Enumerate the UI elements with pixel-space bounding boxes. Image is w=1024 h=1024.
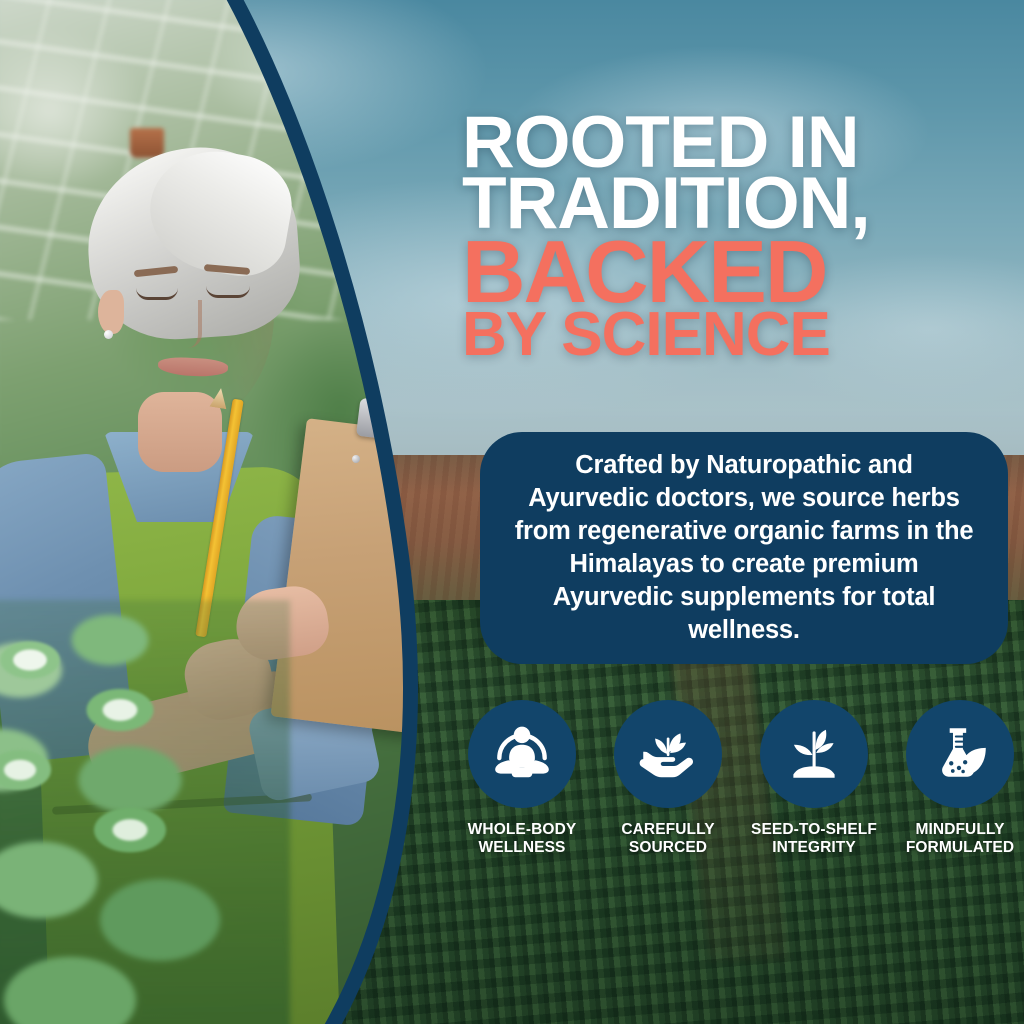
eye-left xyxy=(136,288,178,300)
badge-circle xyxy=(614,700,722,808)
badge-label-line-2: INTEGRITY xyxy=(772,839,856,856)
meditation-icon xyxy=(489,721,555,787)
badge-circle xyxy=(906,700,1014,808)
badge-circle xyxy=(468,700,576,808)
description-text: Crafted by Naturopathic and Ayurvedic do… xyxy=(480,449,1008,648)
badge-label-line-1: MINDFULLY xyxy=(915,821,1004,838)
headline-line-4: BY SCIENCE xyxy=(462,309,1018,361)
badge-label: SEED-TO-SHELF INTEGRITY xyxy=(751,821,877,858)
clipboard-rivet xyxy=(352,455,360,463)
poster-canvas: ROOTED IN TRADITION, BACKED BY SCIENCE C… xyxy=(0,0,1024,1024)
headline-line-3: BACKED xyxy=(462,235,1018,309)
badge-label: MINDFULLY FORMULATED xyxy=(906,821,1014,858)
seedling-in-soil-icon xyxy=(781,721,847,787)
hand-holding-plant-icon xyxy=(635,721,701,787)
badge-carefully-sourced[interactable]: CAREFULLY SOURCED xyxy=(604,700,732,858)
description-panel: Crafted by Naturopathic and Ayurvedic do… xyxy=(480,432,1008,664)
ear xyxy=(98,290,124,334)
foreground-leaves xyxy=(0,620,230,920)
badge-label: CAREFULLY SOURCED xyxy=(621,821,714,858)
page-title: ROOTED IN TRADITION, BACKED BY SCIENCE xyxy=(462,112,1018,361)
nose xyxy=(176,300,202,348)
feature-badges: WHOLE-BODY WELLNESS CAREFULLY SOURCED xyxy=(458,700,1024,858)
badge-label-line-2: FORMULATED xyxy=(906,839,1014,856)
badge-label-line-1: WHOLE-BODY xyxy=(468,821,577,838)
badge-label-line-2: SOURCED xyxy=(629,839,707,856)
badge-seed-to-shelf-integrity[interactable]: SEED-TO-SHELF INTEGRITY xyxy=(750,700,878,858)
badge-label-line-1: SEED-TO-SHELF xyxy=(751,821,877,838)
terracotta-pot xyxy=(130,128,164,158)
badge-label: WHOLE-BODY WELLNESS xyxy=(468,821,577,858)
badge-circle xyxy=(760,700,868,808)
badge-label-line-2: WELLNESS xyxy=(479,839,566,856)
badge-mindfully-formulated[interactable]: MINDFULLY FORMULATED xyxy=(896,700,1024,858)
earring xyxy=(104,330,113,339)
badge-whole-body-wellness[interactable]: WHOLE-BODY WELLNESS xyxy=(458,700,586,858)
flask-with-leaf-icon xyxy=(927,721,993,787)
eye-right xyxy=(206,286,250,298)
badge-label-line-1: CAREFULLY xyxy=(621,821,714,838)
